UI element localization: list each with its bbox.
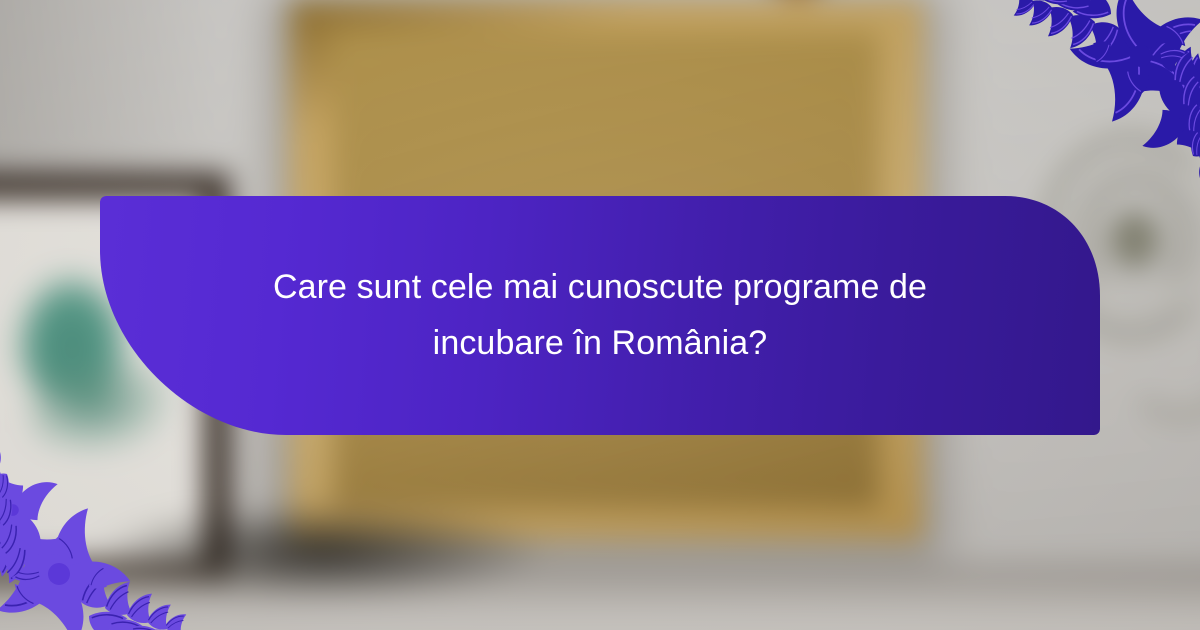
headline-banner: Care sunt cele mai cunoscute programe de…	[100, 196, 1100, 435]
social-share-card: Care sunt cele mai cunoscute programe de…	[0, 0, 1200, 630]
banner-content: Care sunt cele mai cunoscute programe de…	[100, 196, 1100, 435]
page-title: Care sunt cele mai cunoscute programe de…	[250, 260, 950, 370]
